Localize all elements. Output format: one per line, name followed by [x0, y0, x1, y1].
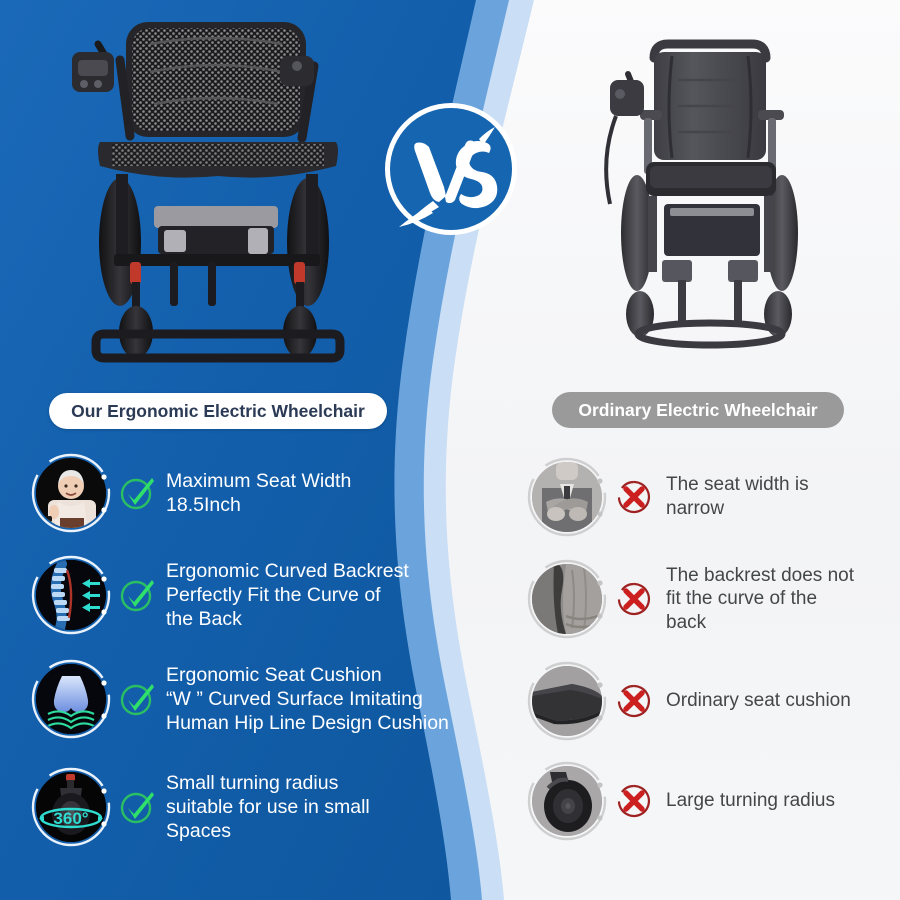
cross-circle-icon — [614, 681, 654, 721]
list-item: 360° Small turning radius suitable for u… — [30, 766, 370, 848]
comparison-infographic: Our Ergonomic Electric Wheelchair Ordina… — [0, 0, 900, 900]
right-column-heading-pill: Ordinary Electric Wheelchair — [552, 392, 844, 428]
feature-line: suitable for use in small — [166, 795, 370, 819]
left-column-heading-label: Our Ergonomic Electric Wheelchair — [71, 401, 365, 422]
list-item: Ergonomic Seat Cushion “W ” Curved Surfa… — [30, 658, 449, 740]
feature-line: The seat width is — [666, 473, 809, 497]
thumbnail-ring — [526, 456, 608, 538]
list-item: Ergonomic Curved Backrest Perfectly Fit … — [30, 554, 409, 636]
feature-line: Ordinary seat cushion — [666, 689, 851, 713]
feature-line: “W ” Curved Surface Imitating — [166, 687, 449, 711]
feature-text: Ergonomic Seat Cushion “W ” Curved Surfa… — [166, 663, 449, 736]
feature-line: Perfectly Fit the Curve of — [166, 583, 409, 607]
check-circle-icon — [116, 786, 158, 828]
cross-circle-icon — [614, 781, 654, 821]
feature-text: Ordinary seat cushion — [666, 689, 851, 713]
feature-thumbnail — [30, 554, 112, 636]
cross-circle-icon — [614, 579, 654, 619]
feature-text: Large turning radius — [666, 789, 835, 813]
list-item: Ordinary seat cushion — [526, 660, 851, 742]
feature-line: Ergonomic Curved Backrest — [166, 559, 409, 583]
thumbnail-ring — [526, 660, 608, 742]
feature-line: The backrest does not — [666, 564, 854, 588]
list-item: The backrest does not fit the curve of t… — [526, 558, 854, 640]
feature-line: 18.5Inch — [166, 493, 351, 517]
check-circle-icon — [116, 678, 158, 720]
cross-circle-icon — [614, 477, 654, 517]
feature-thumbnail — [526, 558, 608, 640]
feature-line: back — [666, 611, 854, 635]
check-circle-icon — [116, 472, 158, 514]
feature-thumbnail — [30, 658, 112, 740]
feature-line: Ergonomic Seat Cushion — [166, 663, 449, 687]
feature-thumbnail — [526, 456, 608, 538]
right-column-heading-label: Ordinary Electric Wheelchair — [578, 400, 817, 421]
feature-thumbnail — [30, 452, 112, 534]
product-photo-ordinary-wheelchair — [592, 18, 847, 370]
list-item: Large turning radius — [526, 760, 835, 842]
feature-thumbnail: 360° — [30, 766, 112, 848]
thumbnail-ring — [30, 658, 112, 740]
feature-text: Small turning radius suitable for use in… — [166, 771, 370, 844]
list-item: Maximum Seat Width 18.5Inch — [30, 452, 351, 534]
feature-text: The seat width is narrow — [666, 473, 809, 520]
feature-line: Large turning radius — [666, 789, 835, 813]
feature-thumbnail — [526, 760, 608, 842]
feature-line: Small turning radius — [166, 771, 370, 795]
thumbnail-ring — [526, 760, 608, 842]
feature-text: Maximum Seat Width 18.5Inch — [166, 469, 351, 517]
list-item: The seat width is narrow — [526, 456, 809, 538]
feature-text: Ergonomic Curved Backrest Perfectly Fit … — [166, 559, 409, 632]
check-circle-icon — [116, 574, 158, 616]
product-photo-ergonomic-wheelchair — [58, 14, 378, 379]
feature-text: The backrest does not fit the curve of t… — [666, 564, 854, 635]
thumbnail-ring — [30, 766, 112, 848]
thumbnail-ring — [30, 554, 112, 636]
feature-line: Human Hip Line Design Cushion — [166, 711, 449, 735]
left-column-heading-pill: Our Ergonomic Electric Wheelchair — [49, 393, 387, 429]
thumbnail-ring — [526, 558, 608, 640]
thumbnail-ring — [30, 452, 112, 534]
feature-line: fit the curve of the — [666, 587, 854, 611]
feature-line: the Back — [166, 607, 409, 631]
feature-line: Spaces — [166, 819, 370, 843]
feature-thumbnail — [526, 660, 608, 742]
vs-badge-icon — [383, 101, 519, 237]
feature-line: Maximum Seat Width — [166, 469, 351, 493]
feature-line: narrow — [666, 497, 809, 521]
